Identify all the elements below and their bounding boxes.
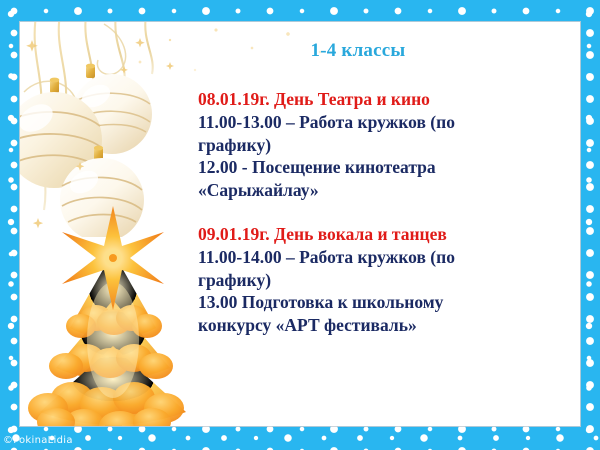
schedule-heading: 09.01.19г. День вокала и танцев: [198, 223, 565, 245]
slide: 1-4 классы 08.01.19г. День Театра и кино…: [0, 0, 600, 450]
frame-dots-left: [0, 0, 22, 450]
schedule-line: графику): [198, 134, 565, 156]
schedule-line: «Сарыжайлау»: [198, 179, 565, 201]
text-content: 1-4 классы 08.01.19г. День Театра и кино…: [175, 40, 565, 336]
schedule-line: графику): [198, 269, 565, 291]
frame-dots-bottom: [0, 426, 600, 450]
schedule-line: 11.00-14.00 – Работа кружков (по: [198, 246, 565, 268]
frame-dots-right: [578, 0, 600, 450]
schedule-line: 13.00 Подготовка к школьному: [198, 291, 565, 313]
slide-canvas: 1-4 классы 08.01.19г. День Театра и кино…: [20, 22, 580, 426]
schedule-heading: 08.01.19г. День Театра и кино: [198, 88, 565, 110]
page-title: 1-4 классы: [175, 40, 565, 62]
schedule-line: 11.00-13.00 – Работа кружков (по: [198, 111, 565, 133]
watermark: ©FokinaLidia: [3, 435, 73, 446]
schedule-line: конкурсу «АРТ фестиваль»: [198, 314, 565, 336]
schedule-block-1: 08.01.19г. День Театра и кино 11.00-13.0…: [175, 88, 565, 201]
schedule-block-2: 09.01.19г. День вокала и танцев 11.00-14…: [175, 223, 565, 336]
schedule-line: 12.00 - Посещение кинотеатра: [198, 156, 565, 178]
